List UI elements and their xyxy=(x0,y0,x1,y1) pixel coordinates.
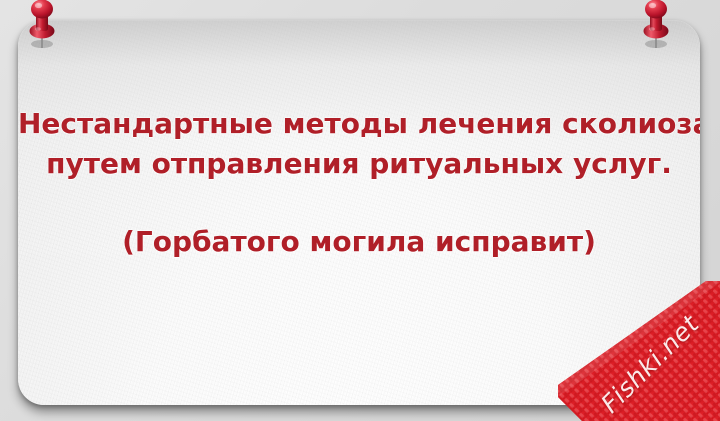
pushpin-left-icon xyxy=(20,0,64,50)
pinned-paper-card: Нестандартные методы лечения сколиоза пу… xyxy=(18,20,700,405)
meme-text-line-3: (Горбатого могила исправит) xyxy=(18,222,700,262)
meme-text-block: Нестандартные методы лечения сколиоза пу… xyxy=(18,104,700,262)
meme-text-line-1: Нестандартные методы лечения сколиоза xyxy=(18,104,700,144)
meme-text-line-2: путем отправления ритуальных услуг. xyxy=(18,144,700,184)
meme-text-gap xyxy=(18,184,700,222)
pushpin-right-icon xyxy=(634,0,678,50)
meme-image-canvas: Нестандартные методы лечения сколиоза пу… xyxy=(0,0,720,421)
